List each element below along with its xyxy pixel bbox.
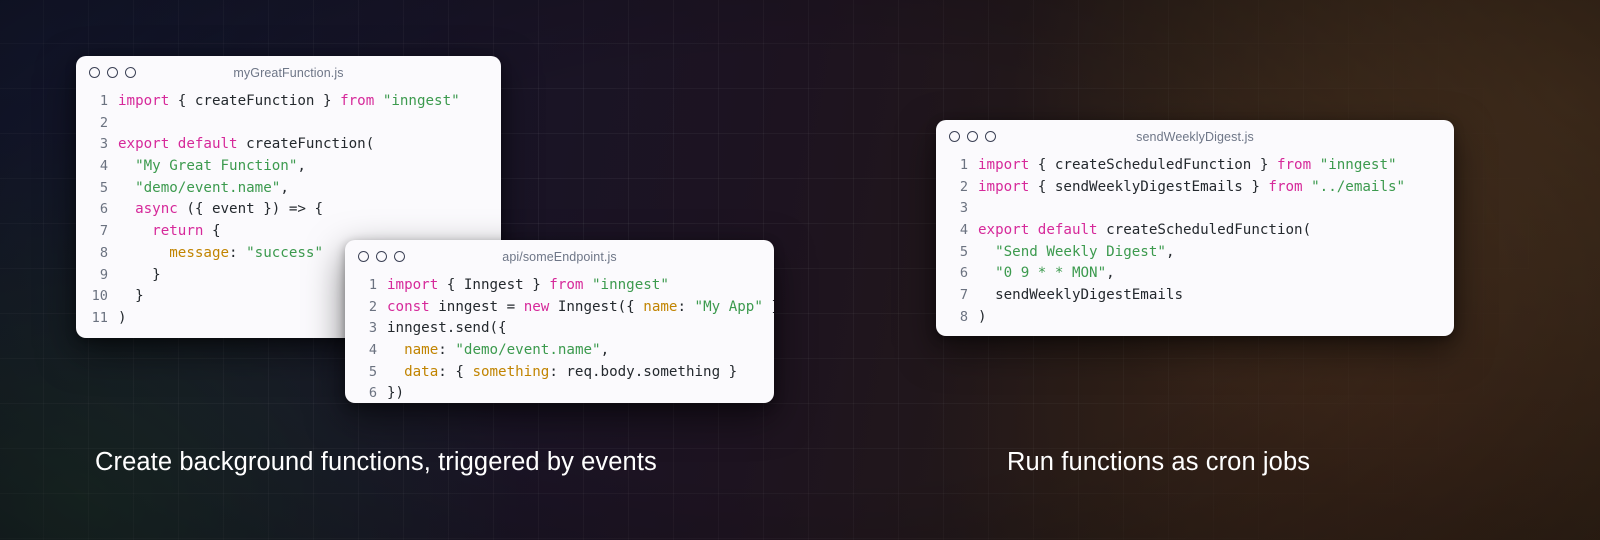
line-number: 4 [345, 340, 377, 362]
code-window-api-some-endpoint[interactable]: api/someEndpoint.js 1import { Inngest } … [345, 240, 774, 403]
line-number: 11 [76, 308, 108, 330]
line-number: 6 [76, 199, 108, 221]
window-title: sendWeeklyDigest.js [936, 130, 1454, 144]
caption-left: Create background functions, triggered b… [95, 448, 657, 477]
close-dot[interactable] [358, 251, 369, 262]
line-number: 2 [936, 177, 968, 199]
line-code: async ({ event }) => { [108, 199, 323, 221]
window-titlebar: myGreatFunction.js [76, 56, 501, 89]
code-line: 6 "0 9 * * MON", [936, 263, 1454, 285]
line-code: export default createFunction( [108, 134, 374, 156]
code-line: 2 [76, 113, 501, 135]
window-titlebar: api/someEndpoint.js [345, 240, 774, 273]
line-code: export default createScheduledFunction( [968, 220, 1311, 242]
code-content: 1import { createScheduledFunction } from… [936, 153, 1454, 336]
code-line: 2import { sendWeeklyDigestEmails } from … [936, 177, 1454, 199]
code-line: 1import { createFunction } from "inngest… [76, 91, 501, 113]
line-number: 8 [76, 243, 108, 265]
line-number: 5 [345, 362, 377, 384]
code-line: 4export default createScheduledFunction( [936, 220, 1454, 242]
close-dot[interactable] [949, 131, 960, 142]
line-number: 6 [936, 263, 968, 285]
window-traffic-lights [936, 131, 996, 142]
code-line: 5 "Send Weekly Digest", [936, 242, 1454, 264]
line-code: message: "success" [108, 243, 323, 265]
code-window-send-weekly-digest[interactable]: sendWeeklyDigest.js 1import { createSche… [936, 120, 1454, 336]
line-code: const inngest = new Inngest({ name: "My … [377, 297, 774, 319]
line-code: } [108, 286, 144, 308]
line-code: import { Inngest } from "inngest" [377, 275, 669, 297]
code-line: 4 "My Great Function", [76, 156, 501, 178]
line-code: "Send Weekly Digest", [968, 242, 1174, 264]
line-code: import { sendWeeklyDigestEmails } from "… [968, 177, 1405, 199]
line-code: import { createFunction } from "inngest" [108, 91, 460, 113]
line-number: 1 [345, 275, 377, 297]
code-line: 1import { createScheduledFunction } from… [936, 155, 1454, 177]
line-code: sendWeeklyDigestEmails [968, 285, 1183, 307]
line-number: 2 [76, 113, 108, 135]
line-number: 5 [936, 242, 968, 264]
maximize-dot[interactable] [394, 251, 405, 262]
code-line: 6 async ({ event }) => { [76, 199, 501, 221]
code-line: 2const inngest = new Inngest({ name: "My… [345, 297, 774, 319]
code-line: 8) [936, 307, 1454, 329]
line-code: inngest.send({ [377, 318, 507, 340]
line-number: 1 [76, 91, 108, 113]
window-titlebar: sendWeeklyDigest.js [936, 120, 1454, 153]
line-number: 9 [76, 265, 108, 287]
code-line: 5 "demo/event.name", [76, 178, 501, 200]
line-code: data: { something: req.body.something } [377, 362, 737, 384]
code-line: 4 name: "demo/event.name", [345, 340, 774, 362]
line-code: ) [968, 307, 987, 329]
line-number: 6 [345, 383, 377, 403]
close-dot[interactable] [89, 67, 100, 78]
code-line: 3 [936, 198, 1454, 220]
minimize-dot[interactable] [376, 251, 387, 262]
line-number: 3 [345, 318, 377, 340]
line-number: 4 [76, 156, 108, 178]
hero-illustration: myGreatFunction.js 1import { createFunct… [0, 0, 1600, 540]
code-line: 1import { Inngest } from "inngest" [345, 275, 774, 297]
window-title: myGreatFunction.js [76, 66, 501, 80]
line-code: }) [377, 383, 404, 403]
maximize-dot[interactable] [985, 131, 996, 142]
line-code: name: "demo/event.name", [377, 340, 609, 362]
line-code: return { [108, 221, 221, 243]
code-line: 6}) [345, 383, 774, 403]
line-number: 10 [76, 286, 108, 308]
maximize-dot[interactable] [125, 67, 136, 78]
line-number: 8 [936, 307, 968, 329]
line-code: } [108, 265, 161, 287]
line-number: 3 [76, 134, 108, 156]
line-number: 5 [76, 178, 108, 200]
code-line: 7 sendWeeklyDigestEmails [936, 285, 1454, 307]
minimize-dot[interactable] [107, 67, 118, 78]
line-number: 7 [936, 285, 968, 307]
window-traffic-lights [76, 67, 136, 78]
line-code: "demo/event.name", [108, 178, 289, 200]
window-title: api/someEndpoint.js [345, 250, 774, 264]
minimize-dot[interactable] [967, 131, 978, 142]
line-code: import { createScheduledFunction } from … [968, 155, 1397, 177]
line-number: 7 [76, 221, 108, 243]
line-code: ) [108, 308, 127, 330]
window-traffic-lights [345, 251, 405, 262]
code-line: 3inngest.send({ [345, 318, 774, 340]
line-number: 3 [936, 198, 968, 220]
line-number: 4 [936, 220, 968, 242]
caption-right: Run functions as cron jobs [1007, 448, 1310, 477]
line-number: 2 [345, 297, 377, 319]
code-line: 3export default createFunction( [76, 134, 501, 156]
line-code: "My Great Function", [108, 156, 306, 178]
code-content: 1import { Inngest } from "inngest"2const… [345, 273, 774, 403]
line-code: "0 9 * * MON", [968, 263, 1115, 285]
code-line: 5 data: { something: req.body.something … [345, 362, 774, 384]
line-number: 1 [936, 155, 968, 177]
